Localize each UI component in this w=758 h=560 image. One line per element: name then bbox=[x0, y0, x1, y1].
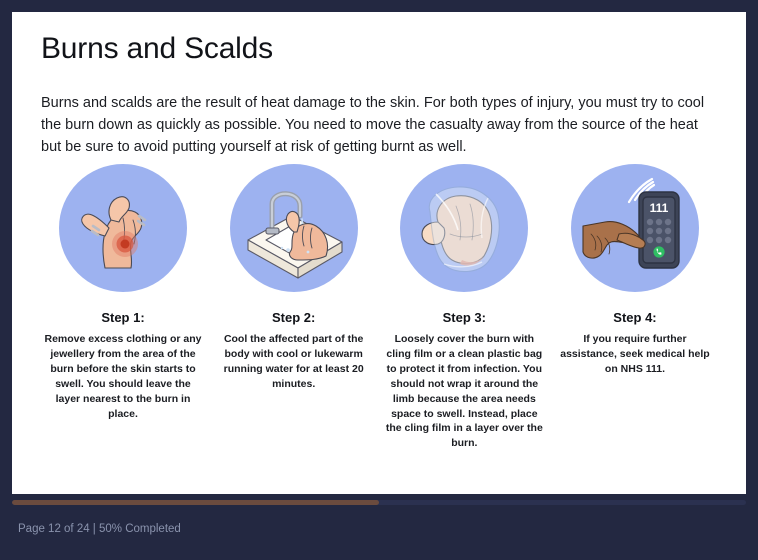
progress-bar-track bbox=[12, 500, 746, 505]
intro-paragraph: Burns and scalds are the result of heat … bbox=[41, 92, 717, 158]
hand-dialling-111-on-phone-icon: 111 bbox=[571, 164, 699, 292]
footer-bar: Page 12 of 24 | 50% Completed ‹ Prev Nex… bbox=[0, 508, 758, 560]
progress-bar-fill bbox=[12, 500, 379, 505]
burned-hand-with-rings-icon bbox=[59, 164, 187, 292]
step-text: Cool the affected part of the body with … bbox=[214, 332, 374, 392]
step-label: Step 1: bbox=[101, 310, 144, 325]
page-status-text: Page 12 of 24 | 50% Completed bbox=[18, 523, 181, 535]
step-item-2: Step 2: Cool the affected part of the bo… bbox=[212, 164, 376, 451]
svg-text:111: 111 bbox=[650, 201, 669, 215]
step-label: Step 2: bbox=[272, 310, 315, 325]
hand-under-running-tap-icon bbox=[230, 164, 358, 292]
step-label: Step 4: bbox=[613, 310, 656, 325]
step-text: If you require further assistance, seek … bbox=[555, 332, 715, 377]
slide-card: Burns and Scalds Burns and scalds are th… bbox=[12, 12, 746, 494]
step-item-3: Step 3: Loosely cover the burn with clin… bbox=[382, 164, 546, 451]
step-text: Loosely cover the burn with cling film o… bbox=[384, 332, 544, 451]
step-item-4: 111 bbox=[553, 164, 717, 451]
steps-row: Step 1: Remove excess clothing or any je… bbox=[41, 164, 717, 451]
page-title: Burns and Scalds bbox=[41, 32, 273, 66]
hand-covered-in-cling-film-icon bbox=[400, 164, 528, 292]
step-label: Step 3: bbox=[443, 310, 486, 325]
step-text: Remove excess clothing or any jewellery … bbox=[43, 332, 203, 421]
step-item-1: Step 1: Remove excess clothing or any je… bbox=[41, 164, 205, 451]
